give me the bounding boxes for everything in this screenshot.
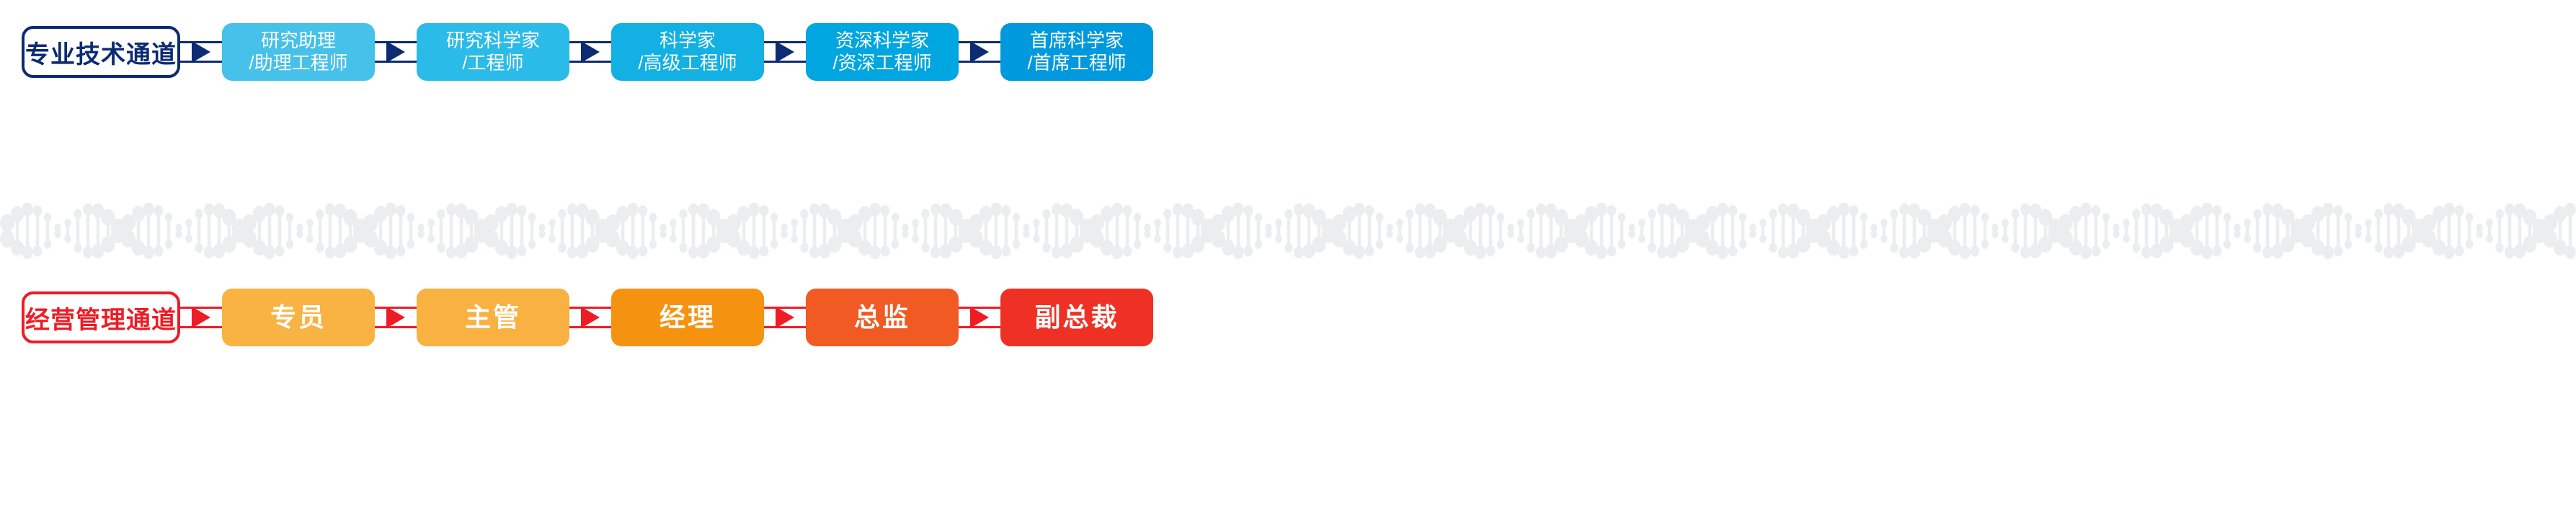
tech-level-4[interactable]: 资深科学家 /资深工程师 xyxy=(806,23,959,81)
tech-level-1-line1: 研究助理 xyxy=(261,30,336,52)
technical-channel-label: 专业技术通道 xyxy=(22,26,180,78)
arrow-bar-bottom xyxy=(764,61,806,63)
arrow-triangle-icon xyxy=(192,41,210,63)
tech-level-4-line1: 资深科学家 xyxy=(835,30,929,52)
tech-level-3-line2: /高级工程师 xyxy=(638,52,737,74)
tech-level-5-line1: 首席科学家 xyxy=(1030,30,1124,52)
tech-level-3-line1: 科学家 xyxy=(659,30,716,52)
tech-level-3[interactable]: 科学家 /高级工程师 xyxy=(611,23,764,81)
management-channel-label: 经营管理通道 xyxy=(22,291,180,343)
arrow-connector-mgmt-3 xyxy=(569,307,611,328)
mgmt-level-4[interactable]: 总监 xyxy=(806,289,959,346)
mgmt-level-3[interactable]: 经理 xyxy=(611,289,764,346)
arrow-triangle-icon xyxy=(776,41,794,63)
arrow-bar-bottom xyxy=(959,326,1000,328)
management-channel-row: 经营管理通道 专员 主管 经理 xyxy=(0,281,2576,354)
management-channel-label-text: 经营管理通道 xyxy=(25,300,177,335)
arrow-connector-tech-4 xyxy=(764,41,806,63)
mgmt-level-5-line1: 副总裁 xyxy=(1034,302,1119,333)
arrow-connector-mgmt-4 xyxy=(764,307,806,328)
arrow-bar-bottom xyxy=(180,326,222,328)
arrow-bar-bottom xyxy=(959,61,1000,63)
arrow-bar-bottom xyxy=(375,326,417,328)
mgmt-level-1[interactable]: 专员 xyxy=(222,289,375,346)
arrow-connector-mgmt-5 xyxy=(959,307,1000,328)
arrow-connector-tech-2 xyxy=(375,41,417,63)
tech-level-2-line2: /工程师 xyxy=(462,52,523,74)
arrow-triangle-icon xyxy=(192,307,210,328)
tech-level-5-line2: /首席工程师 xyxy=(1027,52,1126,74)
mgmt-level-2[interactable]: 主管 xyxy=(417,289,569,346)
mgmt-level-1-line1: 专员 xyxy=(270,302,327,333)
mgmt-level-5[interactable]: 副总裁 xyxy=(1000,289,1153,346)
arrow-triangle-icon xyxy=(970,41,989,63)
arrow-triangle-icon xyxy=(386,307,405,328)
arrow-connector-mgmt-1 xyxy=(180,307,222,328)
arrow-bar-bottom xyxy=(180,61,222,63)
mgmt-level-4-line1: 总监 xyxy=(854,302,910,333)
arrow-bar-bottom xyxy=(569,61,611,63)
mgmt-level-2-line1: 主管 xyxy=(465,302,521,333)
tech-level-2-line1: 研究科学家 xyxy=(446,30,540,52)
arrow-bar-bottom xyxy=(375,61,417,63)
technical-channel-label-text: 专业技术通道 xyxy=(25,35,177,70)
tech-level-1-line2: /助理工程师 xyxy=(249,52,347,74)
arrow-connector-mgmt-2 xyxy=(375,307,417,328)
arrow-bar-bottom xyxy=(569,326,611,328)
tech-level-1[interactable]: 研究助理 /助理工程师 xyxy=(222,23,375,81)
arrow-triangle-icon xyxy=(386,41,405,63)
dna-helix-decoration xyxy=(0,196,2576,265)
tech-level-4-line2: /资深工程师 xyxy=(832,52,931,74)
arrow-triangle-icon xyxy=(776,307,794,328)
tech-level-2[interactable]: 研究科学家 /工程师 xyxy=(417,23,569,81)
arrow-triangle-icon xyxy=(970,307,989,328)
arrow-bar-bottom xyxy=(764,326,806,328)
arrow-triangle-icon xyxy=(581,41,600,63)
tech-level-5[interactable]: 首席科学家 /首席工程师 xyxy=(1000,23,1153,81)
diagram-canvas: 专业技术通道 研究助理 /助理工程师 研究科学家 /工程师 科学家 xyxy=(0,0,2576,518)
technical-channel-row: 专业技术通道 研究助理 /助理工程师 研究科学家 /工程师 科学家 xyxy=(0,16,2576,88)
mgmt-level-3-line1: 经理 xyxy=(659,302,716,333)
arrow-connector-tech-1 xyxy=(180,41,222,63)
arrow-triangle-icon xyxy=(581,307,600,328)
arrow-connector-tech-5 xyxy=(959,41,1000,63)
arrow-connector-tech-3 xyxy=(569,41,611,63)
